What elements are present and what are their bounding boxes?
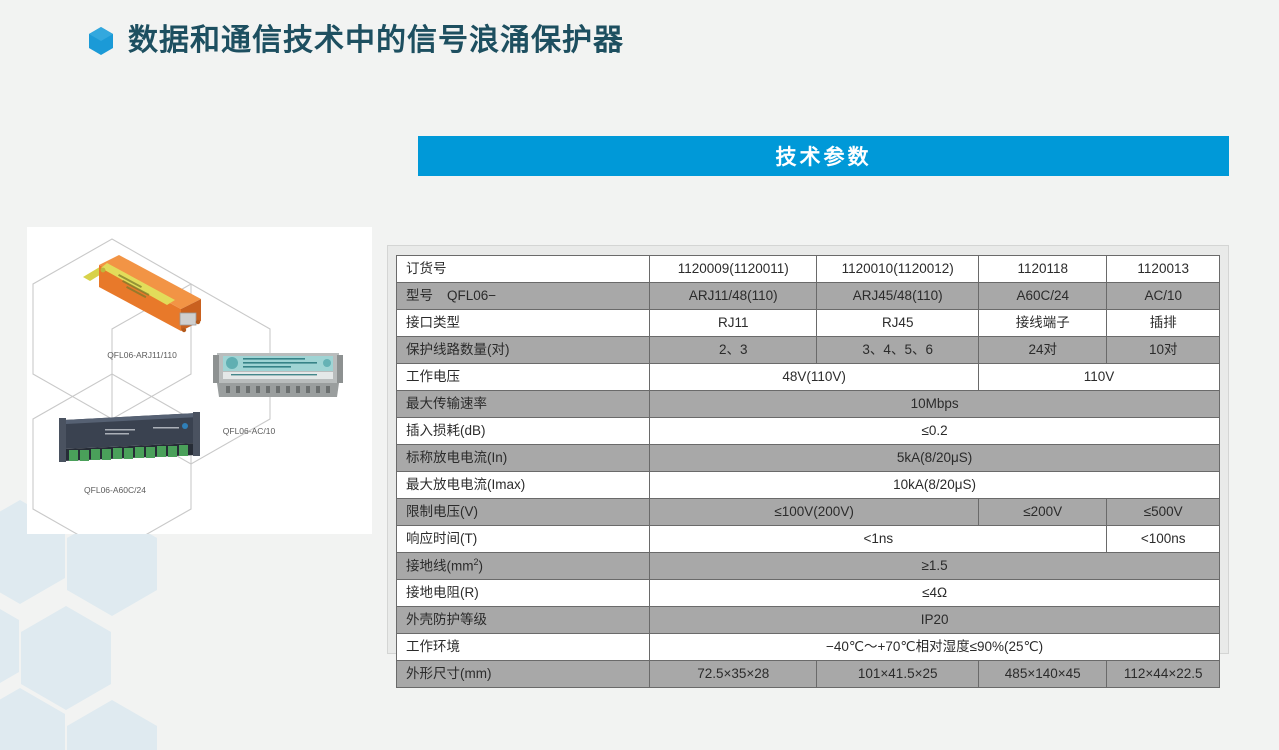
spec-row-label: 保护线路数量(对)	[397, 337, 650, 364]
spec-row-label: 响应时间(T)	[397, 526, 650, 553]
product-hexagon-collage: QFL06-ARJ11/110	[27, 227, 372, 534]
spec-cell: 2、3	[650, 337, 817, 364]
spec-table-body: 订货号1120009(1120011)1120010(1120012)11201…	[397, 256, 1220, 688]
page-header: 数据和通信技术中的信号浪涌保护器	[88, 26, 624, 56]
spec-table: 订货号1120009(1120011)1120010(1120012)11201…	[396, 255, 1220, 688]
spec-cell: ≤500V	[1107, 499, 1220, 526]
table-row: 工作电压48V(110V)110V	[397, 364, 1220, 391]
spec-cell: RJ11	[650, 310, 817, 337]
table-row: 保护线路数量(对)2、33、4、5、624对10对	[397, 337, 1220, 364]
spec-row-label: 最大传输速率	[397, 391, 650, 418]
product-label-2: QFL06-AC/10	[223, 426, 276, 436]
table-row: 最大传输速率10Mbps	[397, 391, 1220, 418]
spec-cell: ≤100V(200V)	[650, 499, 979, 526]
section-banner-title: 技术参数	[776, 141, 872, 171]
table-row: 插入损耗(dB)≤0.2	[397, 418, 1220, 445]
spec-cell: 接线端子	[979, 310, 1107, 337]
spec-cell: 10Mbps	[650, 391, 1220, 418]
spec-cell: 485×140×45	[979, 661, 1107, 688]
spec-cell: A60C/24	[979, 283, 1107, 310]
spec-cell: ARJ45/48(110)	[817, 283, 979, 310]
product-image-panel: QFL06-ARJ11/110	[27, 227, 372, 534]
table-row: 订货号1120009(1120011)1120010(1120012)11201…	[397, 256, 1220, 283]
spec-cell: −40℃～+70℃相对湿度≤90%(25℃)	[650, 634, 1220, 661]
spec-cell: ≤0.2	[650, 418, 1220, 445]
spec-cell: 10kA(8/20μS)	[650, 472, 1220, 499]
spec-cell: 101×41.5×25	[817, 661, 979, 688]
product-photo-a60c24	[59, 412, 200, 462]
spec-cell: IP20	[650, 607, 1220, 634]
spec-cell: ≤200V	[979, 499, 1107, 526]
spec-cell: 1120013	[1107, 256, 1220, 283]
spec-cell: 48V(110V)	[650, 364, 979, 391]
spec-cell: ≤4Ω	[650, 580, 1220, 607]
product-label-1: QFL06-ARJ11/110	[107, 350, 177, 360]
table-row: 接地电阻(R)≤4Ω	[397, 580, 1220, 607]
spec-table-frame: 订货号1120009(1120011)1120010(1120012)11201…	[387, 245, 1229, 654]
spec-cell: 112×44×22.5	[1107, 661, 1220, 688]
spec-cell: 10对	[1107, 337, 1220, 364]
table-row: 工作环境−40℃～+70℃相对湿度≤90%(25℃)	[397, 634, 1220, 661]
spec-row-label: 外壳防护等级	[397, 607, 650, 634]
spec-cell: AC/10	[1107, 283, 1220, 310]
table-row: 外形尺寸(mm)72.5×35×28101×41.5×25485×140×451…	[397, 661, 1220, 688]
spec-cell: 1120010(1120012)	[817, 256, 979, 283]
spec-cell: 24对	[979, 337, 1107, 364]
table-row: 型号QFL06−ARJ11/48(110)ARJ45/48(110)A60C/2…	[397, 283, 1220, 310]
spec-row-label: 工作电压	[397, 364, 650, 391]
spec-cell: 110V	[979, 364, 1220, 391]
spec-cell: <1ns	[650, 526, 1107, 553]
spec-cell: 1120118	[979, 256, 1107, 283]
spec-row-label: 接口类型	[397, 310, 650, 337]
spec-row-label: 插入损耗(dB)	[397, 418, 650, 445]
product-label-3: QFL06-A60C/24	[84, 485, 146, 495]
spec-cell: 3、4、5、6	[817, 337, 979, 364]
page-title: 数据和通信技术中的信号浪涌保护器	[128, 26, 624, 56]
product-photo-ac10	[213, 353, 343, 397]
section-banner: 技术参数	[418, 136, 1229, 176]
spec-row-label: 订货号	[397, 256, 650, 283]
spec-row-label: 限制电压(V)	[397, 499, 650, 526]
spec-cell: <100ns	[1107, 526, 1220, 553]
spec-row-label: 接地电阻(R)	[397, 580, 650, 607]
table-row: 响应时间(T)<1ns<100ns	[397, 526, 1220, 553]
spec-row-label: 工作环境	[397, 634, 650, 661]
table-row: 外壳防护等级IP20	[397, 607, 1220, 634]
spec-cell: 72.5×35×28	[650, 661, 817, 688]
table-row: 标称放电电流(In)5kA(8/20μS)	[397, 445, 1220, 472]
table-row: 限制电压(V)≤100V(200V)≤200V≤500V	[397, 499, 1220, 526]
spec-cell: RJ45	[817, 310, 979, 337]
spec-cell: ARJ11/48(110)	[650, 283, 817, 310]
spec-row-label: 标称放电电流(In)	[397, 445, 650, 472]
spec-cell: 5kA(8/20μS)	[650, 445, 1220, 472]
table-row: 接口类型RJ11RJ45接线端子插排	[397, 310, 1220, 337]
spec-cell: 1120009(1120011)	[650, 256, 817, 283]
spec-row-label: 外形尺寸(mm)	[397, 661, 650, 688]
spec-cell: ≥1.5	[650, 553, 1220, 580]
product-photo-arj11	[83, 255, 201, 332]
spec-row-label: 最大放电电流(Imax)	[397, 472, 650, 499]
hexagon-icon	[88, 26, 114, 56]
table-row: 最大放电电流(Imax)10kA(8/20μS)	[397, 472, 1220, 499]
table-row: 接地线(mm2)≥1.5	[397, 553, 1220, 580]
spec-row-label: 接地线(mm2)	[397, 553, 650, 580]
spec-row-label: 型号QFL06−	[397, 283, 650, 310]
spec-cell: 插排	[1107, 310, 1220, 337]
